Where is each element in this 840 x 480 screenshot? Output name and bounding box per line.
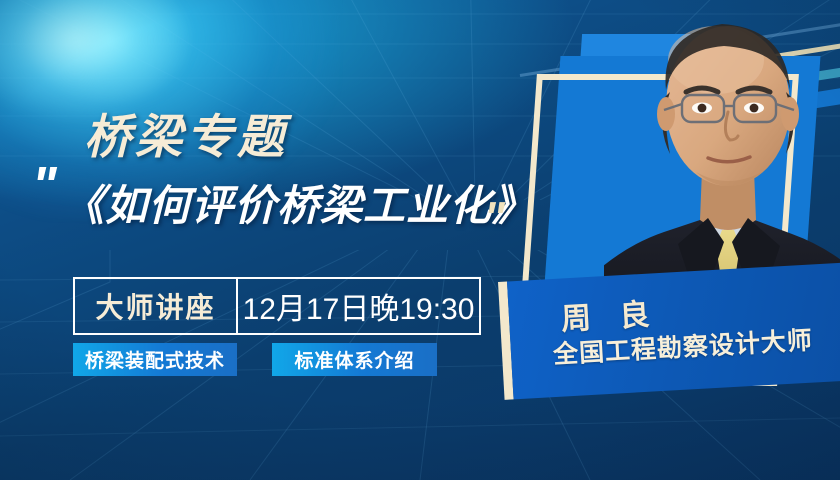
lecture-datetime: 12月17日晚19:30	[243, 284, 475, 328]
lecture-datetime-cell: 12月17日晚19:30	[238, 284, 479, 328]
topic-tag-1: 桥梁装配式技术	[73, 343, 237, 376]
nameplate-body: 周 良 全国工程勘察设计大师	[507, 262, 840, 399]
banner-poster: 周 良 全国工程勘察设计大师 桥梁专题 " 《如何评价桥梁工业化》 " 大师讲座…	[0, 0, 840, 480]
lecture-info-bar: 大师讲座 12月17日晚19:30	[73, 277, 481, 335]
quote-open-mark: "	[32, 160, 57, 212]
lecture-label: 大师讲座	[95, 286, 215, 326]
speaker-nameplate: 周 良 全国工程勘察设计大师	[498, 262, 840, 400]
topic-tag-2: 标准体系介绍	[272, 343, 437, 376]
page-title: 桥梁专题	[84, 98, 288, 167]
quote-close-mark: "	[484, 196, 505, 240]
lecture-label-cell: 大师讲座	[75, 279, 238, 333]
page-subtitle: 《如何评价桥梁工业化》	[62, 172, 535, 233]
